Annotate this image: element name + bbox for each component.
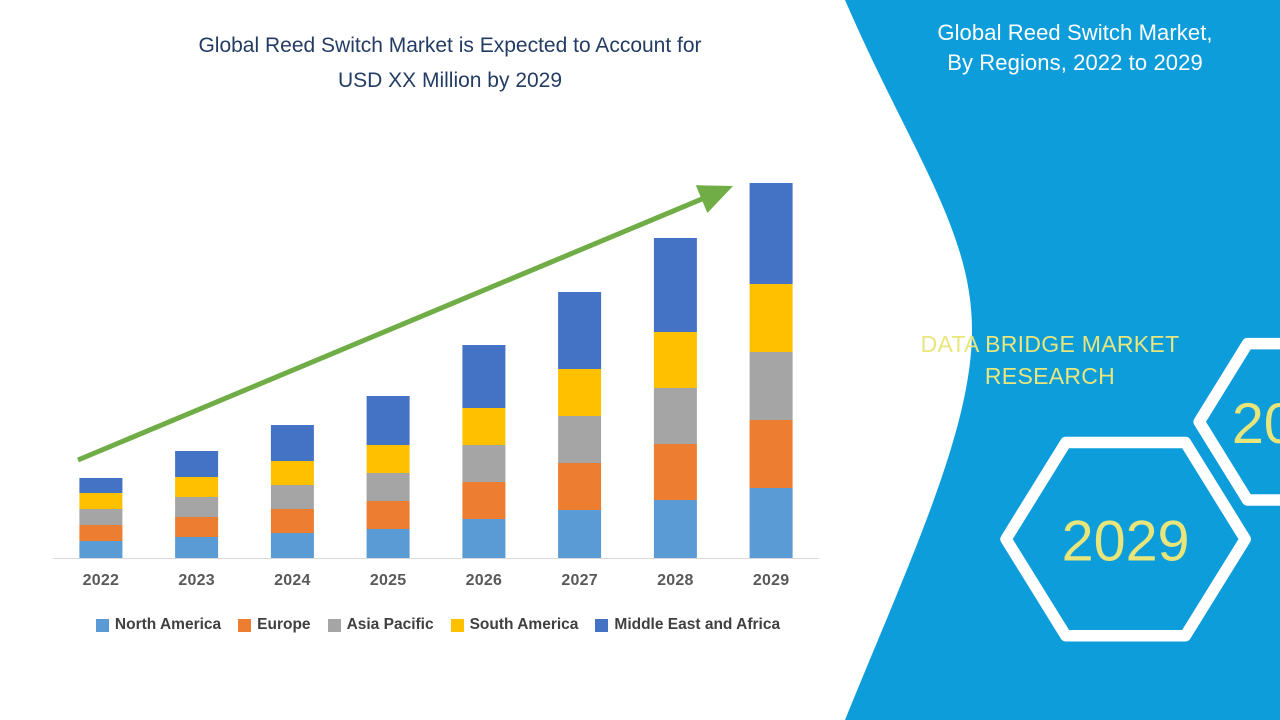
legend-label: Asia Pacific — [347, 616, 434, 634]
bar-segment-2024-south-america[interactable] — [271, 461, 314, 485]
bar-segment-2026-south-america[interactable] — [462, 408, 505, 445]
bar-segment-2023-europe[interactable] — [175, 517, 218, 537]
x-axis-tick-2024: 2024 — [245, 572, 341, 600]
x-axis-line — [53, 558, 819, 559]
bar-segment-2026-north-america[interactable] — [462, 519, 505, 558]
bar-segment-2028-north-america[interactable] — [654, 500, 697, 558]
x-axis-tick-2022: 2022 — [53, 572, 149, 600]
x-axis-tick-2025: 2025 — [340, 572, 436, 600]
legend-item-asia-pacific[interactable]: Asia Pacific — [328, 616, 434, 634]
bar-segment-2028-asia-pacific[interactable] — [654, 388, 697, 444]
bar-segment-2029-asia-pacific[interactable] — [750, 352, 793, 420]
legend-label: South America — [470, 616, 579, 634]
bar-segment-2029-north-america[interactable] — [750, 488, 793, 558]
bar-segment-2026-europe[interactable] — [462, 482, 505, 519]
bar-segment-2027-middle-east-and-africa[interactable] — [558, 292, 601, 369]
bars-group — [79, 183, 792, 558]
x-axis-tick-2026: 2026 — [436, 572, 532, 600]
legend-label: Middle East and Africa — [614, 616, 780, 634]
legend-swatch-icon — [595, 619, 608, 632]
bar-segment-2023-middle-east-and-africa[interactable] — [175, 451, 218, 477]
hexagon-badges-svg: 2029 2022 — [960, 140, 1280, 720]
legend-item-europe[interactable]: Europe — [238, 616, 310, 634]
hexagon-2022-label: 2022 — [1232, 392, 1280, 456]
bar-segment-2025-asia-pacific[interactable] — [367, 473, 410, 501]
chart-plot-area — [0, 0, 840, 660]
bar-segment-2022-europe[interactable] — [79, 525, 122, 541]
x-axis-tick-labels: 20222023202420252026202720282029 — [53, 572, 819, 600]
bar-segment-2027-north-america[interactable] — [558, 510, 601, 558]
bar-segment-2028-south-america[interactable] — [654, 332, 697, 388]
bar-segment-2023-north-america[interactable] — [175, 537, 218, 558]
legend-item-north-america[interactable]: North America — [96, 616, 221, 634]
bar-segment-2024-europe[interactable] — [271, 509, 314, 533]
x-axis-tick-2029: 2029 — [723, 572, 819, 600]
x-axis-tick-2027: 2027 — [532, 572, 628, 600]
bar-segment-2029-europe[interactable] — [750, 420, 793, 488]
legend-swatch-icon — [451, 619, 464, 632]
hexagon-2029-label: 2029 — [1062, 509, 1190, 573]
bar-segment-2023-south-america[interactable] — [175, 477, 218, 497]
stacked-bar-chart — [0, 0, 840, 660]
brand-name: DATA BRIDGE MARKET RESEARCH — [860, 328, 1240, 392]
panel-title: Global Reed Switch Market, By Regions, 2… — [880, 18, 1270, 78]
brand-line-2: RESEARCH — [860, 360, 1240, 392]
bar-segment-2025-middle-east-and-africa[interactable] — [367, 396, 410, 445]
bar-segment-2023-asia-pacific[interactable] — [175, 497, 218, 517]
x-axis-tick-2028: 2028 — [628, 572, 724, 600]
bar-segment-2025-europe[interactable] — [367, 501, 410, 529]
bar-segment-2022-south-america[interactable] — [79, 493, 122, 509]
bar-segment-2028-middle-east-and-africa[interactable] — [654, 238, 697, 332]
bar-segment-2022-middle-east-and-africa[interactable] — [79, 478, 122, 493]
legend-swatch-icon — [328, 619, 341, 632]
x-axis-tick-2023: 2023 — [149, 572, 245, 600]
legend-item-middle-east-and-africa[interactable]: Middle East and Africa — [595, 616, 780, 634]
bar-segment-2025-south-america[interactable] — [367, 445, 410, 473]
bar-segment-2022-asia-pacific[interactable] — [79, 509, 122, 525]
bar-segment-2026-middle-east-and-africa[interactable] — [462, 345, 505, 408]
bar-segment-2027-asia-pacific[interactable] — [558, 416, 601, 463]
bar-segment-2026-asia-pacific[interactable] — [462, 445, 505, 482]
slide-canvas: Global Reed Switch Market is Expected to… — [0, 0, 1280, 720]
legend-swatch-icon — [238, 619, 251, 632]
legend-item-south-america[interactable]: South America — [451, 616, 579, 634]
bar-segment-2028-europe[interactable] — [654, 444, 697, 500]
legend-label: Europe — [257, 616, 310, 634]
bar-segment-2025-north-america[interactable] — [367, 529, 410, 558]
bar-segment-2024-middle-east-and-africa[interactable] — [271, 425, 314, 461]
panel-title-line-1: Global Reed Switch Market, — [880, 18, 1270, 48]
panel-title-line-2: By Regions, 2022 to 2029 — [880, 48, 1270, 78]
hexagon-badges: 2029 2022 — [960, 140, 1160, 300]
brand-line-1: DATA BRIDGE MARKET — [860, 328, 1240, 360]
legend-label: North America — [115, 616, 221, 634]
panel-content: Global Reed Switch Market, By Regions, 2… — [820, 0, 1280, 720]
bar-segment-2027-europe[interactable] — [558, 463, 601, 510]
bar-segment-2022-north-america[interactable] — [79, 541, 122, 558]
right-info-panel: Global Reed Switch Market, By Regions, 2… — [820, 0, 1280, 720]
bar-segment-2029-middle-east-and-africa[interactable] — [750, 183, 793, 284]
bar-segment-2024-asia-pacific[interactable] — [271, 485, 314, 509]
chart-legend: North AmericaEuropeAsia PacificSouth Ame… — [46, 616, 830, 634]
bar-segment-2024-north-america[interactable] — [271, 533, 314, 558]
bar-segment-2027-south-america[interactable] — [558, 369, 601, 416]
bar-segment-2029-south-america[interactable] — [750, 284, 793, 352]
legend-swatch-icon — [96, 619, 109, 632]
